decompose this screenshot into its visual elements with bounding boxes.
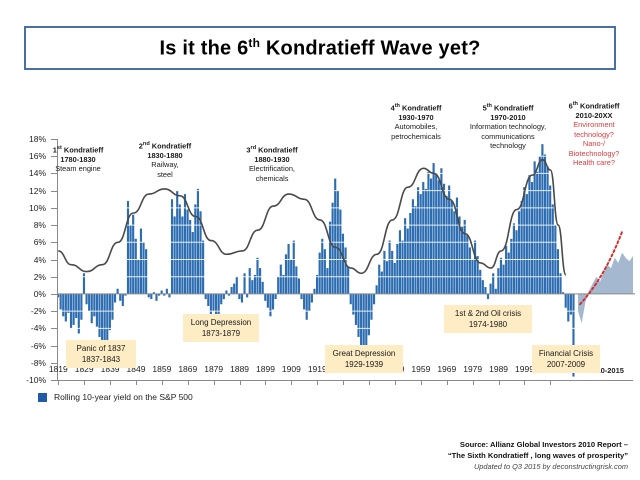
chart-bar xyxy=(376,285,378,294)
chart-bar xyxy=(404,218,406,294)
event-years: 1929-1939 xyxy=(331,359,397,370)
page-title: Is it the 6th Kondratieff Wave yet? xyxy=(160,36,481,61)
chart-bar xyxy=(355,294,357,325)
chart-bar xyxy=(528,175,530,294)
chart-bar xyxy=(521,201,523,294)
chart-legend: Rolling 10-year yield on the S&P 500 xyxy=(38,392,193,402)
chart-bar xyxy=(231,287,233,294)
chart-bar xyxy=(179,204,181,294)
chart-bar xyxy=(236,277,238,294)
chart-bar xyxy=(122,294,124,306)
x-axis-tick xyxy=(136,380,137,385)
chart-bar xyxy=(189,220,191,294)
chart-bar xyxy=(474,241,476,294)
title-pre: Is it the 6 xyxy=(160,37,249,59)
chart-bar xyxy=(446,196,448,294)
chart-bar xyxy=(272,294,274,309)
chart-bar xyxy=(207,294,209,306)
legend-swatch-icon xyxy=(38,393,47,402)
chart-bar xyxy=(495,289,497,294)
chart-bar xyxy=(161,290,163,293)
chart-bar xyxy=(453,211,455,294)
chart-bar xyxy=(148,294,150,297)
kondratieff-wave-annotation-1: 1st Kondratieff1780-1830Steam engine xyxy=(40,144,116,174)
kondratieff-wave-years: 1830-1880 xyxy=(125,151,205,160)
kondratieff-wave-heading: 1st Kondratieff xyxy=(40,144,116,155)
kondratieff-wave-heading: 3rd Kondratieff xyxy=(230,144,314,155)
event-years: 2007-2009 xyxy=(538,359,594,370)
chart-bar xyxy=(497,268,499,294)
kondratieff-wave-description: steel xyxy=(125,170,205,179)
chart-bar xyxy=(316,275,318,294)
chart-bar xyxy=(394,263,396,294)
chart-bar xyxy=(295,266,297,294)
y-axis-label: -6% xyxy=(0,341,46,351)
chart-bar xyxy=(502,265,504,294)
chart-bar xyxy=(399,230,401,294)
chart-bar xyxy=(490,284,492,294)
chart-bar xyxy=(256,258,258,294)
kondratieff-wave-heading: 2nd Kondratieff xyxy=(125,140,205,151)
x-axis-tick xyxy=(265,380,266,385)
chart-bar xyxy=(407,229,409,294)
chart-bar xyxy=(132,215,134,294)
chart-bar xyxy=(412,199,414,294)
chart-bar xyxy=(249,268,251,294)
chart-bar xyxy=(401,241,403,294)
chart-bar xyxy=(420,194,422,294)
chart-bar xyxy=(547,167,549,294)
x-axis-tick xyxy=(395,380,396,385)
chart-bar xyxy=(98,294,100,337)
chart-bar xyxy=(515,230,517,294)
chart-bar xyxy=(425,189,427,294)
chart-bar xyxy=(106,294,108,342)
x-axis-tick xyxy=(317,380,318,385)
kondratieff-wave-description: technology xyxy=(462,141,554,150)
legend-label: Rolling 10-year yield on the S&P 500 xyxy=(54,392,193,402)
chart-bar xyxy=(174,216,176,293)
chart-bar xyxy=(526,194,528,294)
x-axis-line xyxy=(57,380,633,381)
chart-bar xyxy=(88,294,90,311)
chart-bar xyxy=(293,241,295,294)
chart-bar xyxy=(552,204,554,294)
chart-bar xyxy=(187,210,189,294)
source-line-2: “The Sixth Kondratieff , long waves of p… xyxy=(448,450,628,461)
chart-bar xyxy=(368,294,370,335)
chart-bar xyxy=(96,294,98,327)
chart-bar xyxy=(202,241,204,294)
chart-bar xyxy=(396,244,398,294)
source-line-3: Updated to Q3 2015 by deconstructingrisk… xyxy=(448,461,628,472)
chart-bar xyxy=(192,232,194,294)
source-footer: Source: Allianz Global Investors 2010 Re… xyxy=(448,439,628,472)
chart-bar xyxy=(78,294,80,334)
x-axis-tick xyxy=(84,380,85,385)
x-axis-tick xyxy=(550,380,551,385)
event-years: 1974-1980 xyxy=(450,319,526,330)
x-axis-tick xyxy=(58,380,59,385)
chart-bar xyxy=(347,266,349,294)
chart-bar xyxy=(73,294,75,325)
kondratieff-wave-annotation-5: 5th Kondratieff1970-2010Information tech… xyxy=(462,102,554,151)
chart-bar xyxy=(386,261,388,294)
chart-bar xyxy=(275,294,277,299)
chart-bar xyxy=(332,203,334,294)
kondratieff-wave-description: Health care? xyxy=(552,158,636,167)
chart-bar xyxy=(264,294,266,301)
chart-bar xyxy=(60,294,62,309)
chart-bar xyxy=(365,294,367,349)
chart-bar xyxy=(166,289,168,294)
chart-bar xyxy=(479,270,481,294)
chart-bar xyxy=(114,294,116,303)
chart-bar xyxy=(344,247,346,293)
event-callout: Financial Crisis2007-2009 xyxy=(532,345,600,373)
chart-bar xyxy=(417,187,419,294)
chart-bar xyxy=(150,294,152,299)
chart-bar xyxy=(350,294,352,304)
chart-bar xyxy=(65,294,67,322)
kondratieff-wave-heading: 4th Kondratieff xyxy=(370,102,462,113)
x-axis-tick xyxy=(110,380,111,385)
y-axis-line xyxy=(57,139,58,380)
chart-bar xyxy=(171,199,173,294)
chart-bar xyxy=(510,239,512,294)
chart-bar xyxy=(300,294,302,299)
kondratieff-wave-years: 1970-2010 xyxy=(462,113,554,122)
chart-bar xyxy=(541,144,543,294)
chart-bar xyxy=(205,294,207,299)
kondratieff-wave-description: communications xyxy=(462,132,554,141)
chart-bar xyxy=(513,223,515,294)
chart-bar xyxy=(466,235,468,294)
chart-bar xyxy=(557,249,559,294)
y-axis-label: 8% xyxy=(0,220,46,230)
chart-bar xyxy=(487,294,489,299)
chart-bar xyxy=(259,268,261,294)
title-banner: Is it the 6th Kondratieff Wave yet? xyxy=(24,26,616,70)
y-axis-label: 6% xyxy=(0,237,46,247)
chart-bar xyxy=(109,294,111,330)
chart-bar xyxy=(119,294,121,301)
chart-bar xyxy=(212,294,214,311)
title-superscript: th xyxy=(248,36,260,50)
chart-bar xyxy=(321,239,323,294)
x-axis-tick xyxy=(369,380,370,385)
chart-bar xyxy=(181,216,183,293)
chart-bar xyxy=(145,249,147,294)
chart-bar xyxy=(357,294,359,337)
chart-bar xyxy=(451,201,453,294)
kondratieff-wave-description: Automobiles, xyxy=(370,122,462,131)
kondratieff-wave-description: chemicals xyxy=(230,174,314,183)
chart-bar xyxy=(117,289,119,294)
kondratieff-wave-description: Biotechnology? xyxy=(552,149,636,158)
chart-bar xyxy=(85,294,87,304)
chart-bar xyxy=(140,229,142,294)
x-axis-tick xyxy=(421,380,422,385)
source-line-1: Source: Allianz Global Investors 2010 Re… xyxy=(448,439,628,450)
chart-bar xyxy=(544,154,546,293)
chart-bar xyxy=(91,294,93,323)
y-axis-label: -10% xyxy=(0,375,46,385)
chart-bar xyxy=(443,184,445,294)
chart-bar xyxy=(197,189,199,294)
chart-bar xyxy=(111,294,113,320)
kondratieff-wave-years: 1880-1930 xyxy=(230,155,314,164)
chart-bar xyxy=(469,247,471,293)
chart-bar xyxy=(303,294,305,309)
chart-bar xyxy=(484,287,486,294)
event-name: Great Depression xyxy=(331,348,397,359)
chart-bar xyxy=(508,253,510,294)
kondratieff-wave-description: Railway, xyxy=(125,160,205,169)
kondratieff-wave-years: 1930-1970 xyxy=(370,113,462,122)
chart-bar xyxy=(324,249,326,294)
chart-bar xyxy=(93,294,95,316)
x-axis-tick xyxy=(188,380,189,385)
chart-bar xyxy=(414,206,416,294)
event-years: 1873-1879 xyxy=(189,328,253,339)
chart-bar xyxy=(220,294,222,304)
event-name: Financial Crisis xyxy=(538,348,594,359)
kondratieff-wave-description: Environment xyxy=(552,120,636,129)
chart-bar xyxy=(523,187,525,294)
chart-bar xyxy=(373,294,375,304)
chart-bar xyxy=(285,254,287,294)
kondratieff-wave-heading: 6th Kondratieff xyxy=(552,100,636,111)
kondratieff-wave-annotation-6: 6th Kondratieff2010-20XXEnvironmenttechn… xyxy=(552,100,636,167)
projection-area xyxy=(578,253,633,324)
chart-bar xyxy=(308,294,310,311)
chart-bar xyxy=(311,294,313,303)
chart-bar xyxy=(127,201,129,294)
kondratieff-wave-description: Electrification, xyxy=(230,164,314,173)
chart-bar xyxy=(329,222,331,294)
kondratieff-wave-description: petrochemicals xyxy=(370,132,462,141)
y-axis-label: 12% xyxy=(0,186,46,196)
chart-bar xyxy=(326,268,328,294)
chart-bar xyxy=(225,290,227,293)
chart-bar xyxy=(565,294,567,308)
kondratieff-wave-annotation-2: 2nd Kondratieff1830-1880Railway,steel xyxy=(125,140,205,179)
event-years: 1837-1843 xyxy=(72,354,130,365)
chart-bar xyxy=(306,294,308,320)
kondratieff-wave-annotation-4: 4th Kondratieff1930-1970Automobiles,petr… xyxy=(370,102,462,141)
chart-bar xyxy=(370,294,372,320)
event-callout: 1st & 2nd Oil crisis1974-1980 xyxy=(444,305,532,333)
chart-bar xyxy=(536,172,538,294)
chart-bar xyxy=(194,204,196,294)
kondratieff-wave-heading: 5th Kondratieff xyxy=(462,102,554,113)
chart-bar xyxy=(233,284,235,294)
kondratieff-wave-annotation-3: 3rd Kondratieff1880-1930Electrification,… xyxy=(230,144,314,183)
x-axis-tick xyxy=(162,380,163,385)
y-axis-label: -2% xyxy=(0,306,46,316)
kondratieff-wave-description: Steam engine xyxy=(40,164,116,173)
chart-bar xyxy=(298,278,300,293)
chart-bar xyxy=(75,294,77,318)
chart-bar xyxy=(238,294,240,299)
chart-bar xyxy=(518,211,520,294)
chart-bar xyxy=(360,294,362,351)
chart-bar xyxy=(277,277,279,294)
title-post: Kondratieff Wave yet? xyxy=(260,37,480,59)
x-axis-tick xyxy=(473,380,474,385)
chart-bar xyxy=(262,282,264,294)
chart-bar xyxy=(67,294,69,313)
x-axis-tick xyxy=(240,380,241,385)
chart-bar xyxy=(155,294,157,301)
chart-bar xyxy=(482,280,484,294)
y-axis-label: 0% xyxy=(0,289,46,299)
y-axis-label: 2% xyxy=(0,272,46,282)
chart-bar xyxy=(505,246,507,294)
chart-bar xyxy=(313,289,315,294)
event-name: 1st & 2nd Oil crisis xyxy=(450,308,526,319)
y-axis-label: 10% xyxy=(0,203,46,213)
kondratieff-wave-years: 1780-1830 xyxy=(40,155,116,164)
event-callout: Long Depression1873-1879 xyxy=(183,314,259,342)
chart-bar xyxy=(254,275,256,294)
chart-bar xyxy=(464,220,466,294)
event-name: Long Depression xyxy=(189,317,253,328)
chart-bar xyxy=(62,294,64,316)
chart-bar xyxy=(282,275,284,294)
x-axis-tick xyxy=(524,380,525,385)
chart-bar xyxy=(223,294,225,299)
chart-bar xyxy=(246,294,248,297)
chart-bar xyxy=(378,265,380,294)
chart-bar xyxy=(461,227,463,294)
kondratieff-wave-years: 2010-20XX xyxy=(552,111,636,120)
y-axis-label: 18% xyxy=(0,134,46,144)
chart-bar xyxy=(567,294,569,322)
event-callout: Panic of 18371837-1843 xyxy=(66,340,136,368)
chart-bar xyxy=(500,258,502,294)
x-axis-tick xyxy=(499,380,500,385)
chart-bar xyxy=(142,242,144,294)
x-axis-tick xyxy=(214,380,215,385)
chart-bar xyxy=(534,161,536,294)
x-axis-tick xyxy=(447,380,448,385)
chart-bar xyxy=(135,239,137,294)
chart-bar xyxy=(391,251,393,294)
kondratieff-wave-description: technology? xyxy=(552,130,636,139)
chart-bar xyxy=(280,265,282,294)
chart-bar xyxy=(80,294,82,320)
chart-bar xyxy=(168,294,170,297)
kondratieff-wave-description: Information technology, xyxy=(462,122,554,131)
event-name: Panic of 1837 xyxy=(72,343,130,354)
chart-bar xyxy=(184,194,186,294)
kondratieff-wave-description: Nano-/ xyxy=(552,139,636,148)
y-axis-label: 4% xyxy=(0,255,46,265)
chart-bar xyxy=(549,185,551,293)
chart-canvas: 18%16%14%12%10%8%6%4%2%0%-2%-4%-6%-8%-10… xyxy=(0,92,640,402)
chart-bar xyxy=(381,272,383,294)
event-callout: Great Depression1929-1939 xyxy=(325,345,403,373)
chart-bar xyxy=(435,173,437,294)
chart-bar xyxy=(448,185,450,293)
chart-bar xyxy=(433,163,435,294)
chart-bar xyxy=(383,251,385,294)
chart-bar xyxy=(267,294,269,308)
chart-bar xyxy=(288,244,290,294)
chart-bar xyxy=(389,241,391,294)
chart-bar xyxy=(241,294,243,303)
chart-bar xyxy=(319,253,321,294)
x-axis-tick xyxy=(291,380,292,385)
chart-bar xyxy=(251,280,253,294)
chart-bar xyxy=(269,294,271,316)
x-axis-tick xyxy=(343,380,344,385)
y-axis-label: -4% xyxy=(0,323,46,333)
chart-bar xyxy=(427,172,429,294)
